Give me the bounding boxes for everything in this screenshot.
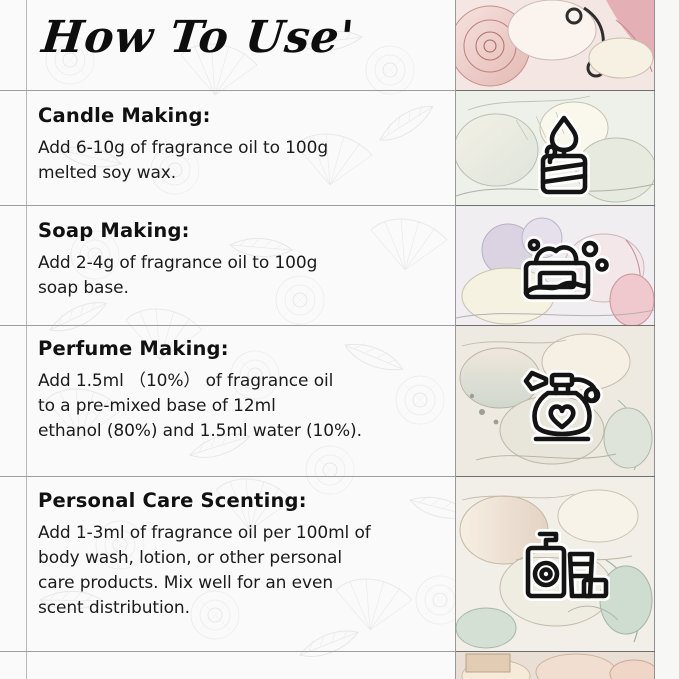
divider-2 [0,205,456,206]
body-line: Add 1.5ml （10%） of fragrance oil [38,369,450,394]
body-line: Add 6-10g of fragrance oil to 100g [38,136,450,161]
body-line: care products. Mix well for an even [38,571,450,596]
body-line: ethanol (80%) and 1.5ml water (10%). [38,419,450,444]
soap-bar-icon [500,218,628,322]
body-line: soap base. [38,276,450,301]
instructions-column: How To Use' Candle Making: Add 6-10g of … [0,0,456,679]
section-heading-perfume-making: Perfume Making: [38,337,450,360]
candle-icon [500,103,628,207]
body-line: body wash, lotion, or other personal [38,546,450,571]
outer-margin [655,0,679,679]
section-perfume-making: Perfume Making: Add 1.5ml （10%） of fragr… [38,337,450,444]
section-body-perfume-making: Add 1.5ml （10%） of fragrance oil to a pr… [38,369,450,444]
divider-4 [0,476,456,477]
section-heading-candle-making: Candle Making: [38,104,450,127]
body-line: Add 2-4g of fragrance oil to 100g [38,251,450,276]
band-divider-4 [456,476,655,477]
body-line: melted soy wax. [38,161,450,186]
body-line: to a pre-mixed base of 12ml [38,394,450,419]
perfume-bottle-icon [500,356,628,460]
how-to-use-infographic: How To Use' Candle Making: Add 6-10g of … [0,0,679,679]
section-body-soap-making: Add 2-4g of fragrance oil to 100g soap b… [38,251,450,301]
band-divider-1 [456,90,655,91]
section-body-candle-making: Add 6-10g of fragrance oil to 100g melte… [38,136,450,186]
page-title: How To Use' [39,12,356,63]
section-body-personal-care-scenting: Add 1-3ml of fragrance oil per 100ml of … [38,521,450,621]
divider-3 [0,325,456,326]
section-heading-soap-making: Soap Making: [38,219,450,242]
band-divider-3 [456,325,655,326]
divider-1 [0,90,456,91]
body-line: Add 1-3ml of fragrance oil per 100ml of [38,521,450,546]
section-soap-making: Soap Making: Add 2-4g of fragrance oil t… [38,219,450,301]
section-personal-care-scenting: Personal Care Scenting: Add 1-3ml of fra… [38,489,450,621]
lotion-bottles-icon [500,512,628,616]
band-left-rule [455,0,456,679]
bottom-strip [0,651,456,679]
body-line: scent distribution. [38,596,450,621]
left-margin-rule [26,0,27,679]
band-divider-5 [456,651,655,652]
section-candle-making: Candle Making: Add 6-10g of fragrance oi… [38,104,450,186]
section-heading-personal-care-scenting: Personal Care Scenting: [38,489,450,512]
